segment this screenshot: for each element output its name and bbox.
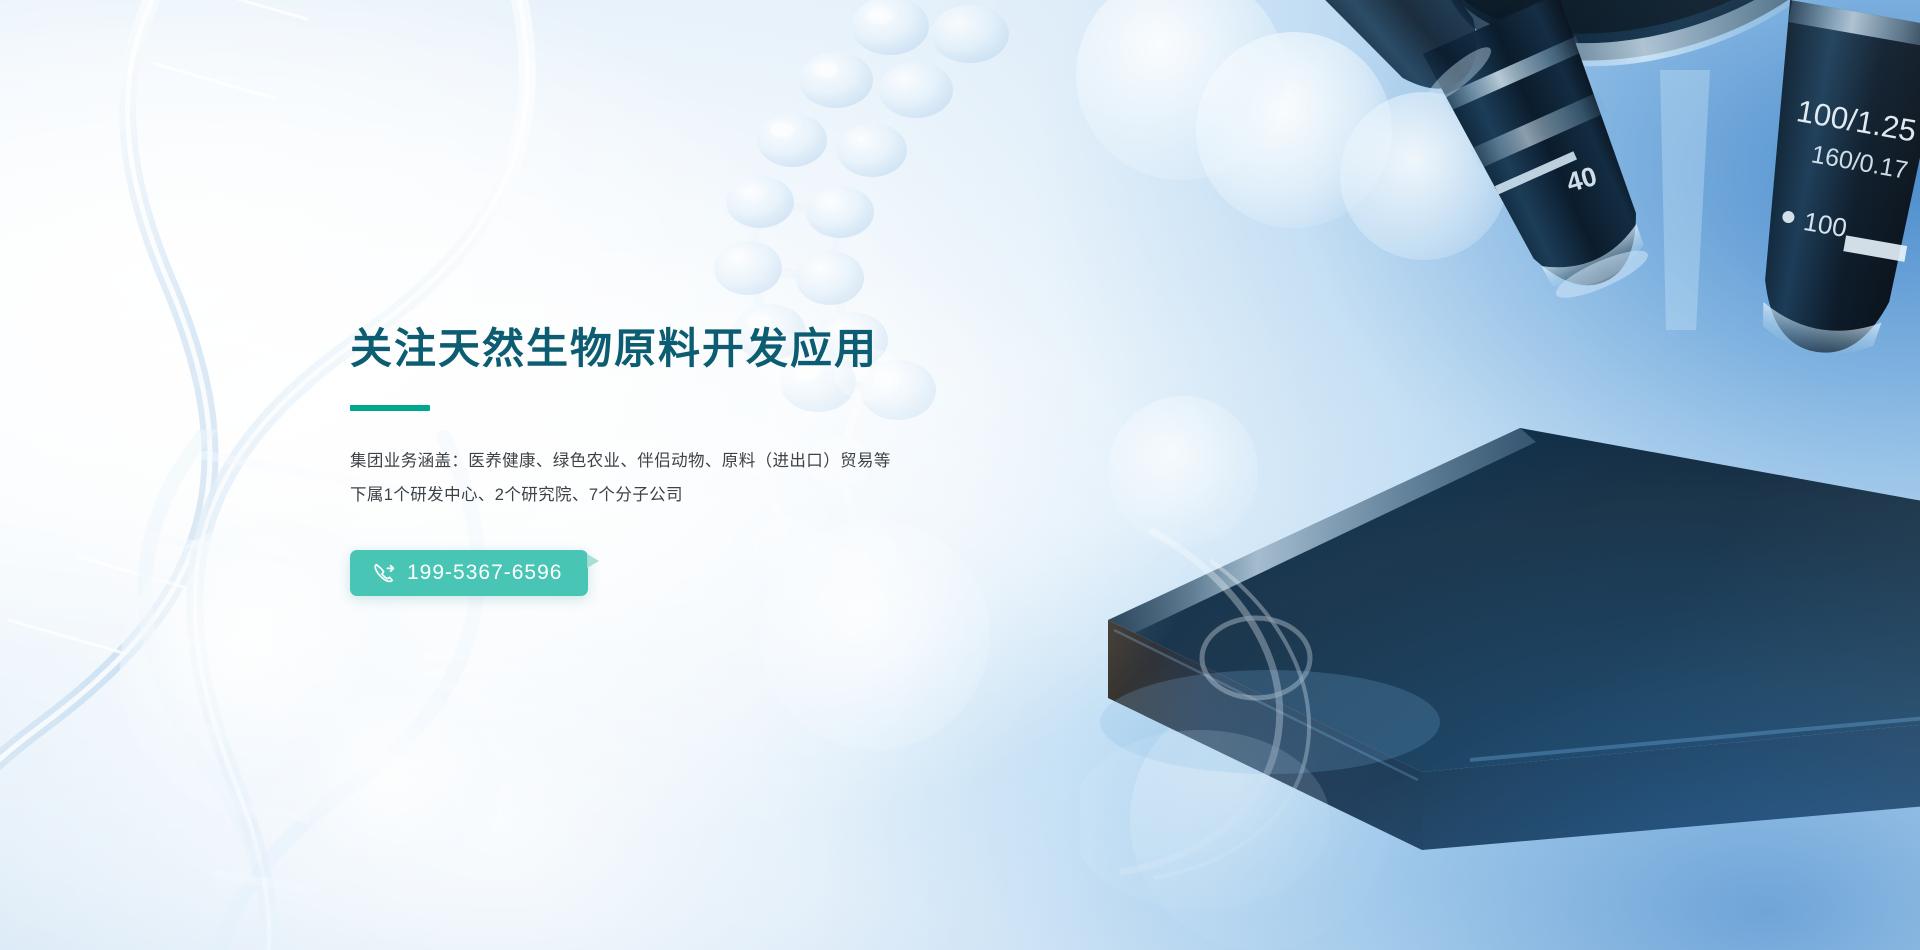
phone-number: 199-5367-6596 [407,561,562,585]
svg-text:100/1.25: 100/1.25 [1794,93,1919,148]
hero-description-line-2: 下属1个研发中心、2个研究院、7个分子公司 [350,478,990,512]
svg-text:160/0.17: 160/0.17 [1809,140,1910,184]
bokeh-light [300,690,500,890]
bokeh-light [1108,396,1258,546]
hero-description-line-1: 集团业务涵盖：医养健康、绿色农业、伴侣动物、原料（进出口）贸易等 [350,444,990,478]
hero-description: 集团业务涵盖：医养健康、绿色农业、伴侣动物、原料（进出口）贸易等 下属1个研发中… [350,444,990,512]
bokeh-light [1340,92,1508,260]
microscope-stage [1050,330,1920,950]
bokeh-light [1196,32,1392,228]
svg-text:100: 100 [1801,206,1849,243]
phone-cta-button[interactable]: 199-5367-6596 [350,550,588,596]
accent-divider [350,405,430,411]
button-tail-decoration [587,554,599,568]
outgoing-call-icon [372,561,396,585]
bokeh-light [1076,0,1286,180]
hero-banner: 40 100/1.25 160/0.17 100 [0,0,1920,950]
glassware-blur [1080,520,1600,940]
microscope-objectives: 40 100/1.25 160/0.17 100 [1190,0,1920,480]
bokeh-light [1130,690,1390,950]
page-title: 关注天然生物原料开发应用 [350,325,990,373]
hero-copy: 关注天然生物原料开发应用 集团业务涵盖：医养健康、绿色农业、伴侣动物、原料（进出… [350,325,990,596]
svg-text:40: 40 [1563,161,1600,198]
